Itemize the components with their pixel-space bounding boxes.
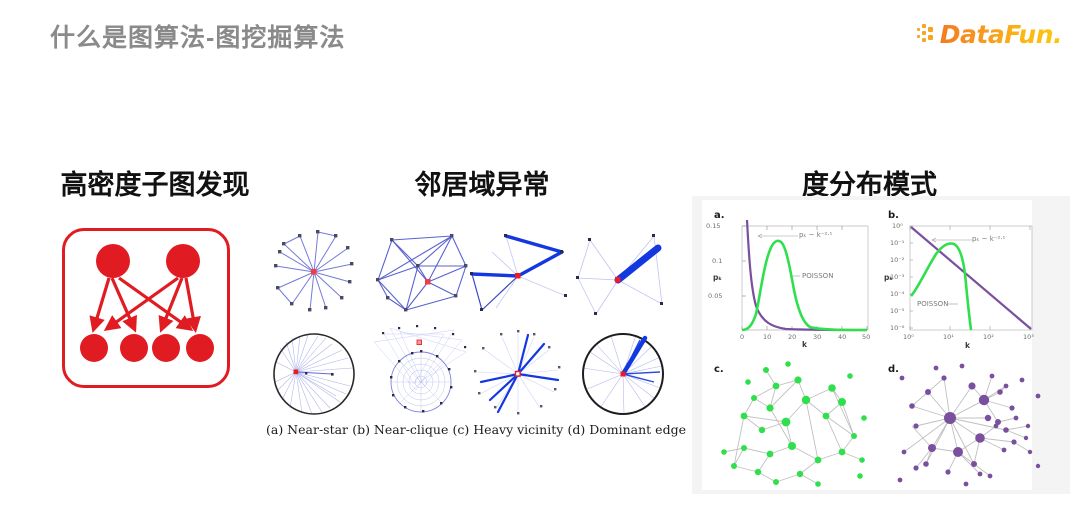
bipartite-bottom-node xyxy=(186,334,214,362)
panel-a-xlabel: k xyxy=(802,340,807,349)
panel-a-powerlaw-label: pₖ ~ k⁻²·¹ xyxy=(799,231,832,239)
caption-near-clique: (b) Near-clique xyxy=(352,422,448,437)
panel-a-xtick-1: 10 xyxy=(763,333,771,341)
datafun-logo: DataFun. xyxy=(917,18,1062,50)
bipartite-bottom-node xyxy=(120,334,148,362)
panel-b-ytick-1: 10⁻¹ xyxy=(890,239,904,247)
degree-distribution-figure: a. b. c. d. 0.15 0.1 0.05 pₖ 0 10 xyxy=(692,196,1070,494)
neighborhood-anomaly-diagram: (a) Near-star (b) Near-clique (c) Heavy … xyxy=(266,222,686,437)
panel-b-ylabel: pₖ xyxy=(884,273,893,282)
caption-near-star: (a) Near-star xyxy=(266,422,348,437)
panel-b-ytick-4: 10⁻⁴ xyxy=(890,290,904,298)
anomaly-subplots xyxy=(266,222,686,422)
near-clique-top xyxy=(376,234,467,311)
near-star-bottom xyxy=(274,334,354,414)
panel-b-ytick-5: 10⁻⁵ xyxy=(890,307,904,315)
panel-a-poisson-label: POISSON xyxy=(802,272,833,280)
panel-a-ytick-2: 0.05 xyxy=(708,292,722,300)
panel-b-xtick-3: 10³ xyxy=(1023,333,1034,341)
panel-b-poisson-label: POISSON xyxy=(917,300,948,308)
caption-dominant-edge: (d) Dominant edge xyxy=(568,422,686,437)
caption-heavy-vicinity: (c) Heavy vicinity xyxy=(453,422,564,437)
panel-b-xtick-1: 10¹ xyxy=(943,333,954,341)
chart-panel-d-scalefree-network xyxy=(888,356,1048,491)
panel-b-xtick-0: 10⁰ xyxy=(903,333,914,341)
panel-b-xtick-2: 10² xyxy=(983,333,994,341)
panel-b-ytick-0: 10⁰ xyxy=(892,222,903,230)
panel-a-ytick-0: 0.15 xyxy=(706,222,720,230)
datafun-wordmark: DataFun. xyxy=(940,22,1062,47)
panel-a-ytick-1: 0.1 xyxy=(712,257,722,265)
section-heading-dense-subgraph: 高密度子图发现 xyxy=(35,163,275,202)
panel-a-xtick-2: 20 xyxy=(788,333,796,341)
panel-b-powerlaw-label: pₖ ~ k⁻²·¹ xyxy=(972,235,1005,243)
bipartite-top-node xyxy=(166,244,200,278)
figure-border xyxy=(62,228,230,388)
page-title: 什么是图算法-图挖掘算法 xyxy=(50,18,345,54)
panel-a-ylabel: pₖ xyxy=(713,273,722,282)
panel-b-ytick-2: 10⁻² xyxy=(890,256,904,264)
panel-b-ytick-6: 10⁻⁶ xyxy=(890,324,904,332)
heavy-vicinity-bottom xyxy=(474,330,560,414)
anomaly-captions: (a) Near-star (b) Near-clique (c) Heavy … xyxy=(266,422,686,437)
panel-a-xtick-3: 30 xyxy=(813,333,821,341)
near-clique-bottom xyxy=(374,325,466,412)
panel-b-xlabel: k xyxy=(965,341,970,350)
near-star-top xyxy=(274,230,353,311)
heavy-vicinity-top xyxy=(470,234,567,311)
chart-panel-c-random-network xyxy=(714,356,874,491)
bipartite-bottom-node xyxy=(152,334,180,362)
bipartite-top-node xyxy=(96,244,130,278)
dense-subgraph-bipartite-diagram xyxy=(62,228,230,388)
datafun-dots-icon xyxy=(917,24,939,44)
panel-a-xtick-5: 50 xyxy=(862,333,870,341)
dominant-edge-top xyxy=(576,234,663,315)
dominant-edge-bottom xyxy=(583,334,663,414)
panel-a-xtick-0: 0 xyxy=(740,333,744,341)
panel-a-xtick-4: 40 xyxy=(838,333,846,341)
chart-panel-a xyxy=(706,218,876,348)
section-heading-neighborhood-anomaly: 邻居域异常 xyxy=(382,163,582,202)
bipartite-bottom-node xyxy=(80,334,108,362)
